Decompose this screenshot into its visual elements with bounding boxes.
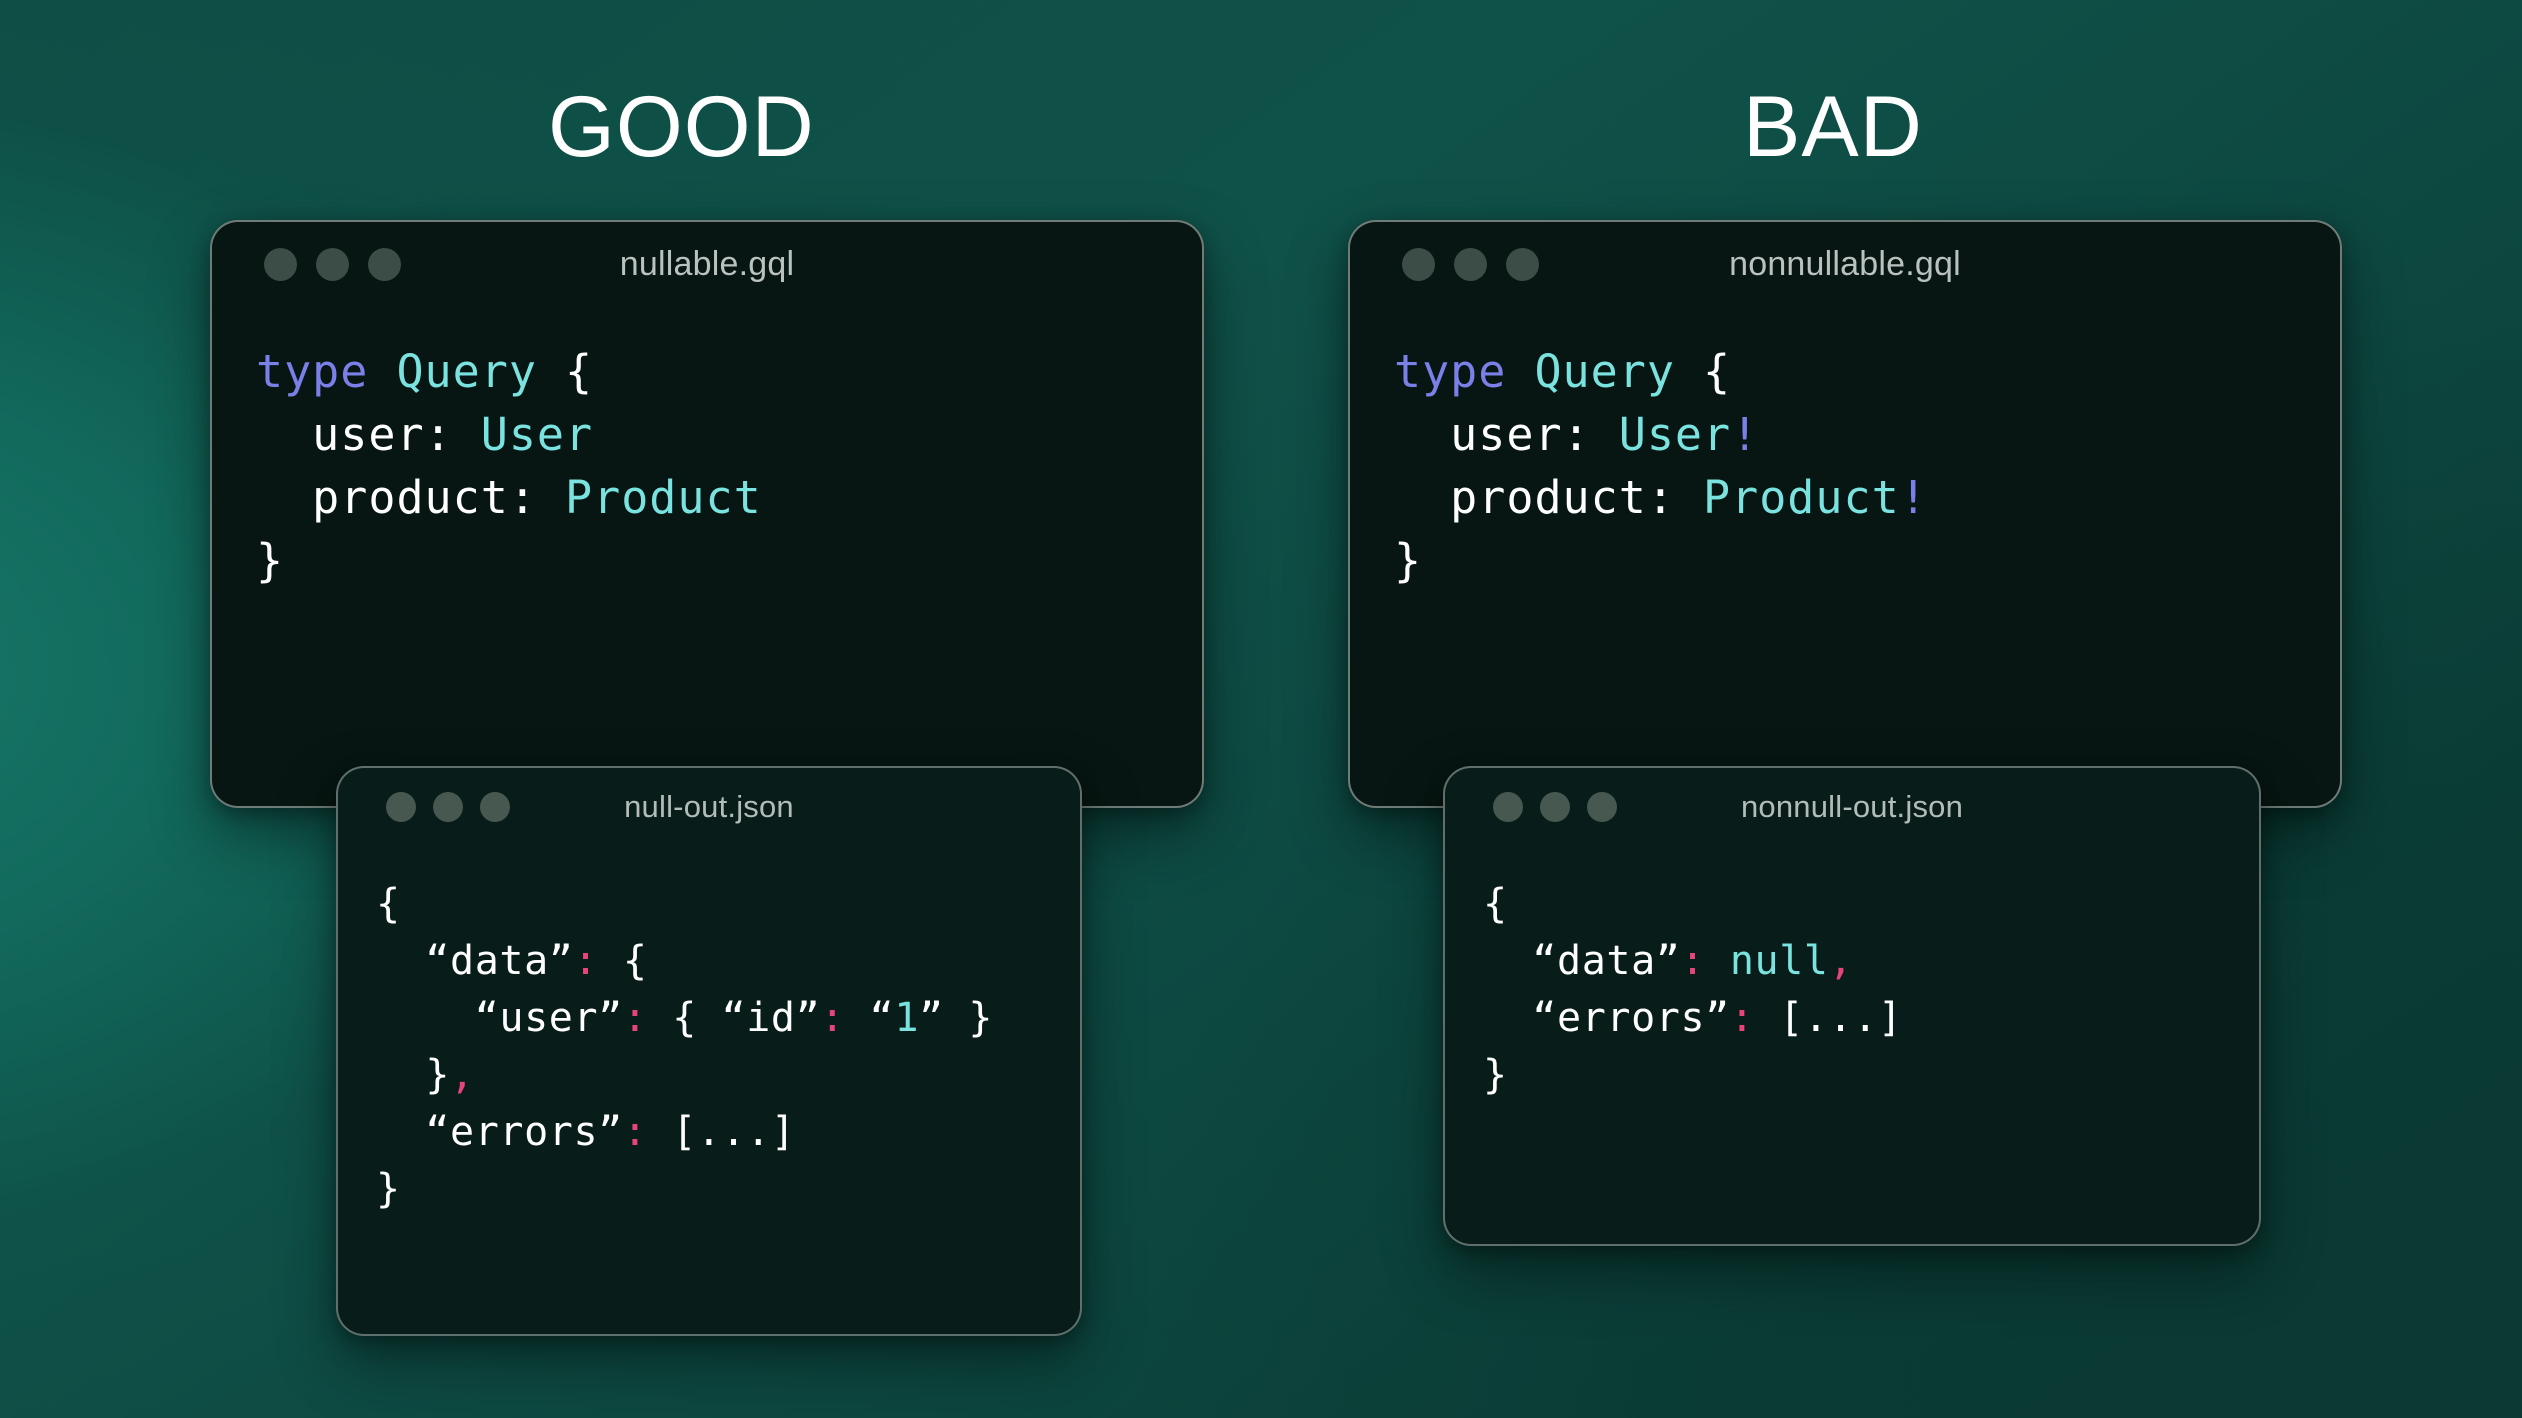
code-token: User — [1619, 408, 1731, 461]
code-token: } — [1483, 1052, 1508, 1098]
code-line: } — [1394, 529, 2340, 592]
code-line: { — [376, 876, 1080, 933]
code-token: Product — [1703, 471, 1900, 524]
bad-schema-titlebar: nonnullable.gql — [1350, 222, 2340, 306]
code-token: type — [1394, 345, 1506, 398]
code-token: product: — [1394, 471, 1703, 524]
bad-output-titlebar: nonnull-out.json — [1445, 768, 2259, 846]
window-minimize-dot-icon[interactable] — [1454, 248, 1487, 281]
code-token: type — [256, 345, 368, 398]
window-minimize-dot-icon[interactable] — [433, 792, 463, 822]
code-token — [1506, 345, 1534, 398]
window-minimize-dot-icon[interactable] — [1540, 792, 1570, 822]
code-token — [368, 345, 396, 398]
code-token: “errors” — [1483, 995, 1730, 1041]
code-token: } — [376, 1052, 450, 1098]
window-maximize-dot-icon[interactable] — [368, 248, 401, 281]
code-line: “errors”: [...] — [1483, 990, 2259, 1047]
window-maximize-dot-icon[interactable] — [480, 792, 510, 822]
good-output-window[interactable]: null-out.json { “data”: { “user”: { “id”… — [336, 766, 1082, 1336]
good-output-traffic-lights — [386, 792, 510, 822]
code-token: “errors” — [376, 1109, 623, 1155]
good-column-heading: GOOD — [548, 84, 815, 170]
code-line: type Query { — [1394, 340, 2340, 403]
bad-output-code: { “data”: null, “errors”: [...]} — [1445, 846, 2259, 1104]
code-token: “id” — [722, 995, 821, 1041]
code-token: : — [623, 995, 648, 1041]
code-token: : — [573, 938, 598, 984]
code-token: “ — [845, 995, 894, 1041]
code-token: : — [1730, 995, 1755, 1041]
code-token: { — [376, 881, 401, 927]
code-token: , — [450, 1052, 475, 1098]
good-output-code: { “data”: { “user”: { “id”: “1” } }, “er… — [338, 846, 1080, 1218]
code-line: “errors”: [...] — [376, 1104, 1080, 1161]
code-token: [...] — [1755, 995, 1903, 1041]
window-close-dot-icon[interactable] — [264, 248, 297, 281]
comparison-figure: GOOD BAD nullable.gql type Query { user:… — [0, 0, 2522, 1418]
bad-schema-window[interactable]: nonnullable.gql type Query { user: User!… — [1348, 220, 2342, 808]
good-schema-window[interactable]: nullable.gql type Query { user: User pro… — [210, 220, 1204, 808]
code-token: user: — [1394, 408, 1619, 461]
good-schema-titlebar: nullable.gql — [212, 222, 1202, 306]
code-token: Query — [1534, 345, 1674, 398]
code-token: “user” — [376, 995, 623, 1041]
code-token: “data” — [376, 938, 573, 984]
code-line: { — [1483, 876, 2259, 933]
code-token — [1705, 938, 1730, 984]
window-maximize-dot-icon[interactable] — [1506, 248, 1539, 281]
code-line: “data”: { — [376, 933, 1080, 990]
code-token: : — [623, 1109, 648, 1155]
code-token: { — [537, 345, 593, 398]
code-token: { — [1483, 881, 1508, 927]
code-line: product: Product! — [1394, 466, 2340, 529]
bad-output-traffic-lights — [1493, 792, 1617, 822]
code-token: { — [1675, 345, 1731, 398]
bad-schema-code: type Query { user: User! product: Produc… — [1350, 306, 2340, 592]
code-token: ” } — [919, 995, 993, 1041]
window-maximize-dot-icon[interactable] — [1587, 792, 1617, 822]
code-token: Product — [565, 471, 762, 524]
bad-output-window[interactable]: nonnull-out.json { “data”: null, “errors… — [1443, 766, 2261, 1246]
code-token: } — [1394, 534, 1422, 587]
code-token: “data” — [1483, 938, 1680, 984]
code-line: product: Product — [256, 466, 1202, 529]
code-token: ! — [1731, 408, 1759, 461]
bad-column-heading: BAD — [1743, 84, 1923, 170]
code-token: product: — [256, 471, 565, 524]
code-line: user: User! — [1394, 403, 2340, 466]
window-minimize-dot-icon[interactable] — [316, 248, 349, 281]
window-close-dot-icon[interactable] — [386, 792, 416, 822]
code-token: } — [256, 534, 284, 587]
window-close-dot-icon[interactable] — [1402, 248, 1435, 281]
code-token: null — [1730, 938, 1829, 984]
good-schema-code: type Query { user: User product: Product… — [212, 306, 1202, 592]
code-line: “user”: { “id”: “1” } — [376, 990, 1080, 1047]
code-token: } — [376, 1166, 401, 1212]
code-token: Query — [396, 345, 536, 398]
bad-schema-traffic-lights — [1402, 248, 1539, 281]
good-output-titlebar: null-out.json — [338, 768, 1080, 846]
code-line: } — [256, 529, 1202, 592]
code-token: { — [648, 995, 722, 1041]
code-token: : — [820, 995, 845, 1041]
code-token: [...] — [648, 1109, 796, 1155]
code-line: } — [1483, 1047, 2259, 1104]
code-token: : — [1680, 938, 1705, 984]
good-schema-traffic-lights — [264, 248, 401, 281]
code-token: ! — [1900, 471, 1928, 524]
window-close-dot-icon[interactable] — [1493, 792, 1523, 822]
code-line: user: User — [256, 403, 1202, 466]
code-line: type Query { — [256, 340, 1202, 403]
code-token: User — [481, 408, 593, 461]
code-line: }, — [376, 1047, 1080, 1104]
code-token: user: — [256, 408, 481, 461]
code-token: { — [598, 938, 647, 984]
code-token: 1 — [894, 995, 919, 1041]
code-token: , — [1829, 938, 1854, 984]
code-line: “data”: null, — [1483, 933, 2259, 990]
code-line: } — [376, 1161, 1080, 1218]
